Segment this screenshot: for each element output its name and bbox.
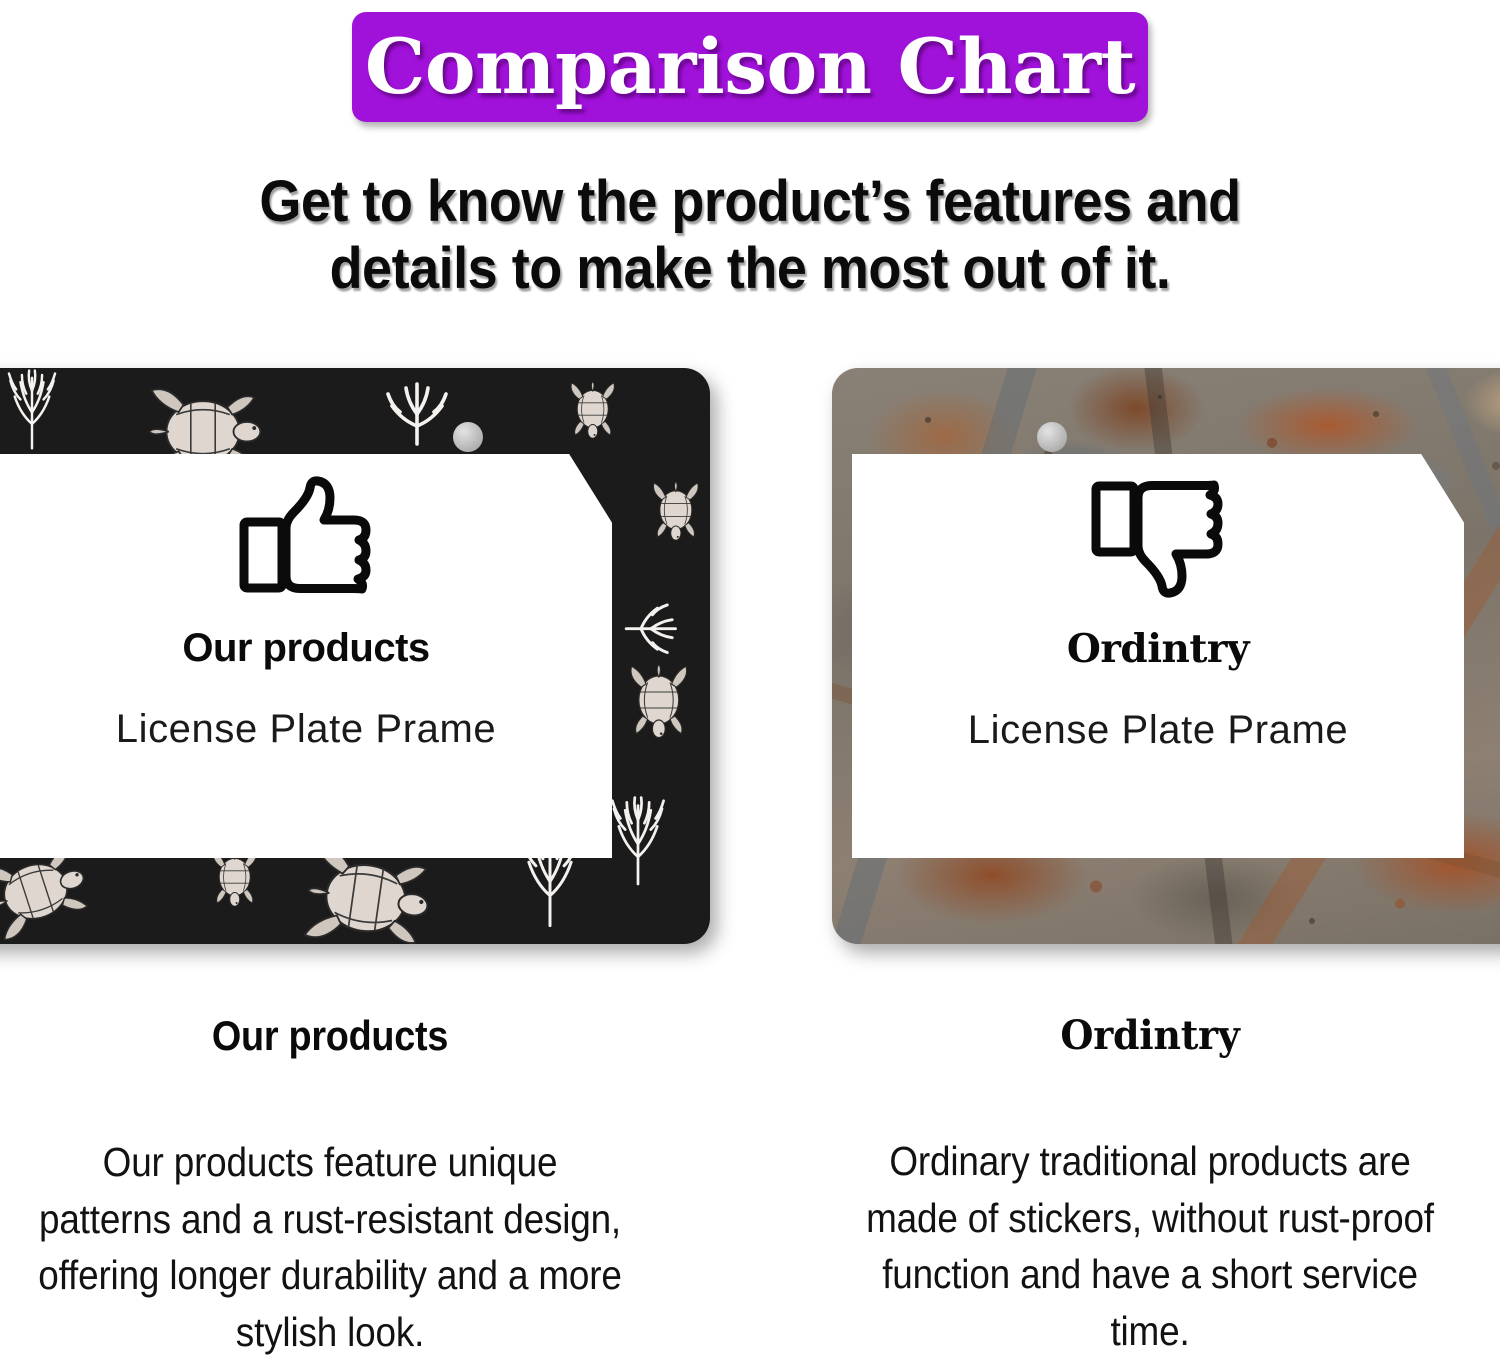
comparison-frames-row: Our products License Plate Prame Ordintr… bbox=[0, 368, 1500, 948]
our-product-heading: Our products bbox=[33, 1012, 627, 1060]
our-product-description-column: Our products Our products feature unique… bbox=[0, 1012, 660, 1360]
thumbs-down-icon bbox=[1090, 476, 1226, 598]
ordinary-product-window-content: Ordintry License Plate Prame bbox=[852, 476, 1464, 753]
ordinary-product-window-subtitle: License Plate Prame bbox=[852, 708, 1464, 753]
our-product-window-title: Our products bbox=[0, 626, 612, 671]
thumbs-up-icon bbox=[238, 476, 374, 598]
our-product-window-subtitle: License Plate Prame bbox=[0, 707, 612, 752]
comparison-chart-banner: Comparison Chart bbox=[352, 12, 1148, 122]
our-product-description: Our products feature unique patterns and… bbox=[33, 1134, 627, 1360]
page-subtitle: Get to know the product’s features and d… bbox=[146, 168, 1355, 303]
ordinary-product-description: Ordinary traditional products are made o… bbox=[853, 1133, 1447, 1359]
ordinary-product-description-column: Ordintry Ordinary traditional products a… bbox=[820, 1012, 1480, 1359]
mounting-hole bbox=[1037, 422, 1067, 452]
ordinary-product-heading: Ordintry bbox=[837, 1012, 1464, 1059]
page-title: Comparison Chart bbox=[365, 29, 1135, 105]
ordinary-product-window-title: Ordintry bbox=[852, 626, 1464, 672]
subtitle-line-2: details to make the most out of it. bbox=[146, 235, 1355, 302]
ordinary-product-license-plate-frame: Ordintry License Plate Prame bbox=[832, 368, 1500, 944]
our-product-window-content: Our products License Plate Prame bbox=[0, 476, 612, 752]
our-product-license-plate-frame: Our products License Plate Prame bbox=[0, 368, 710, 944]
subtitle-line-1: Get to know the product’s features and bbox=[146, 168, 1355, 235]
mounting-hole bbox=[453, 422, 483, 452]
